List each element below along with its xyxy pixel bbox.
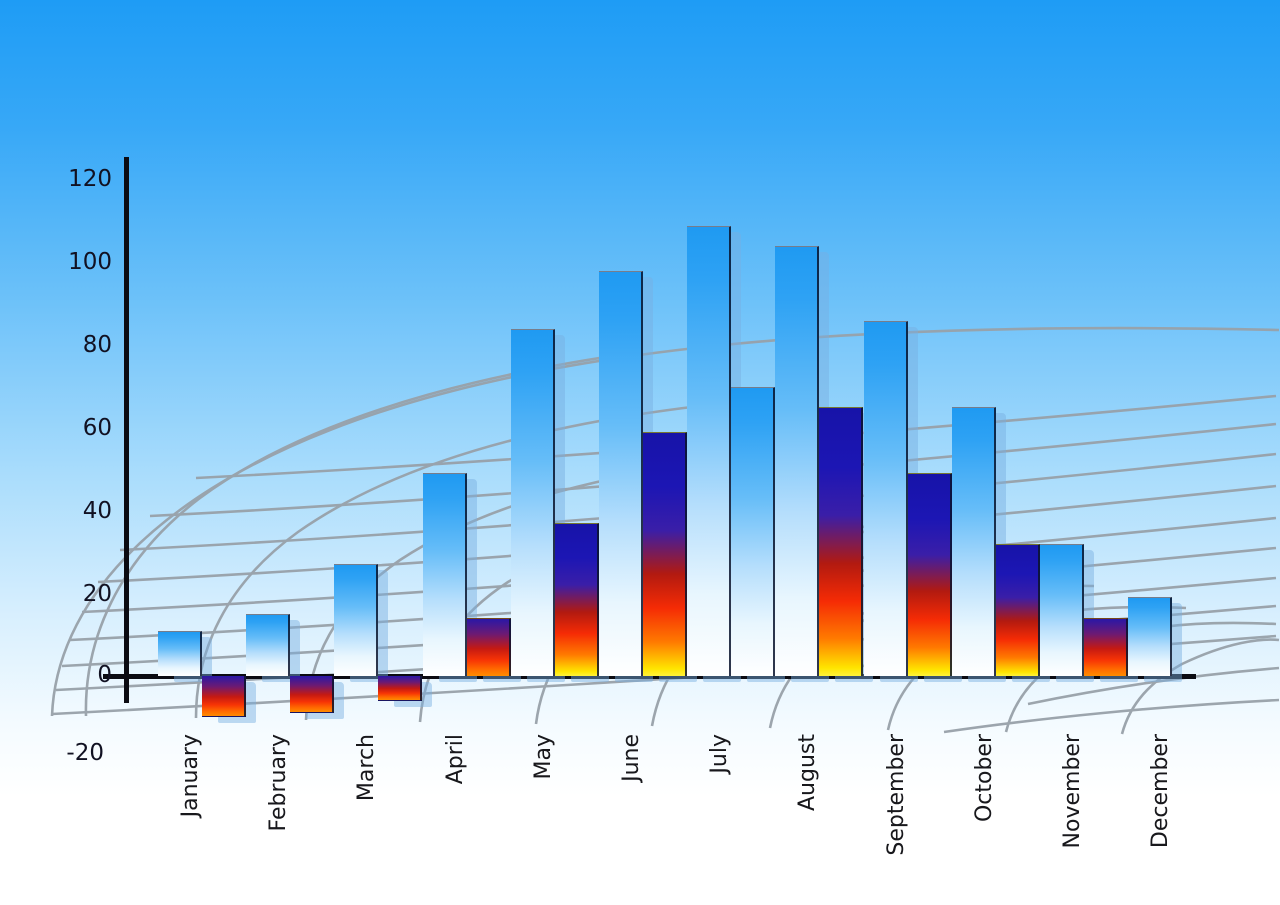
y-tick-label-100: 100 xyxy=(56,251,112,274)
bar-body xyxy=(687,226,731,676)
bar-body xyxy=(996,544,1040,676)
x-tick-label-august: August xyxy=(797,734,819,811)
bar-s1-december xyxy=(1128,597,1190,676)
bar-body xyxy=(643,432,687,676)
bar-body xyxy=(246,614,290,676)
y-tick-label-40: 40 xyxy=(56,500,112,523)
x-tick-label-april: April xyxy=(445,734,467,784)
bar-body xyxy=(1128,597,1172,676)
bar-body xyxy=(467,618,511,676)
x-tick-label-february: February xyxy=(268,734,290,832)
x-tick-label-december: December xyxy=(1150,734,1172,848)
bar-body xyxy=(158,631,202,676)
x-tick-label-june: June xyxy=(621,734,643,782)
x-tick-label-july: July xyxy=(709,734,731,774)
bar-body xyxy=(819,407,863,676)
bar-body xyxy=(731,387,775,676)
bar-body xyxy=(864,321,908,676)
bar-body xyxy=(555,523,599,676)
x-tick-label-november: November xyxy=(1062,734,1084,848)
y-tick-label-80: 80 xyxy=(56,334,112,357)
y-tick-label-20: 20 xyxy=(56,583,112,606)
bar-body xyxy=(908,473,952,676)
bar-s2-march xyxy=(378,676,440,701)
y-axis xyxy=(124,157,129,703)
bar-body xyxy=(378,676,422,701)
bar-body xyxy=(599,271,643,676)
y-tick-label-neg20: -20 xyxy=(48,742,104,765)
bar-body xyxy=(775,246,819,676)
y-tick-label-120: 120 xyxy=(56,168,112,191)
bar-body xyxy=(1040,544,1084,676)
plot-area: 120 100 80 60 40 20 0 -20 JanuaryFebruar… xyxy=(0,0,1280,905)
bar-s1-january xyxy=(158,631,220,676)
chart-canvas: 120 100 80 60 40 20 0 -20 JanuaryFebruar… xyxy=(0,0,1280,905)
bar-s2-february xyxy=(290,676,352,713)
x-tick-label-march: March xyxy=(356,734,378,801)
y-tick-label-60: 60 xyxy=(56,417,112,440)
bar-body xyxy=(1084,618,1128,676)
x-tick-label-october: October xyxy=(974,734,996,822)
bar-body xyxy=(511,329,555,676)
x-tick-label-may: May xyxy=(533,734,555,779)
bar-body xyxy=(202,676,246,717)
y-tick-label-0: 0 xyxy=(56,664,112,687)
bar-s2-january xyxy=(202,676,264,717)
bar-s1-february xyxy=(246,614,308,676)
bar-body xyxy=(423,473,467,676)
bar-body xyxy=(952,407,996,676)
x-tick-label-january: January xyxy=(180,734,202,817)
bar-body xyxy=(290,676,334,713)
x-tick-label-september: September xyxy=(886,734,908,856)
bar-s1-march xyxy=(334,564,396,676)
bar-body xyxy=(334,564,378,676)
